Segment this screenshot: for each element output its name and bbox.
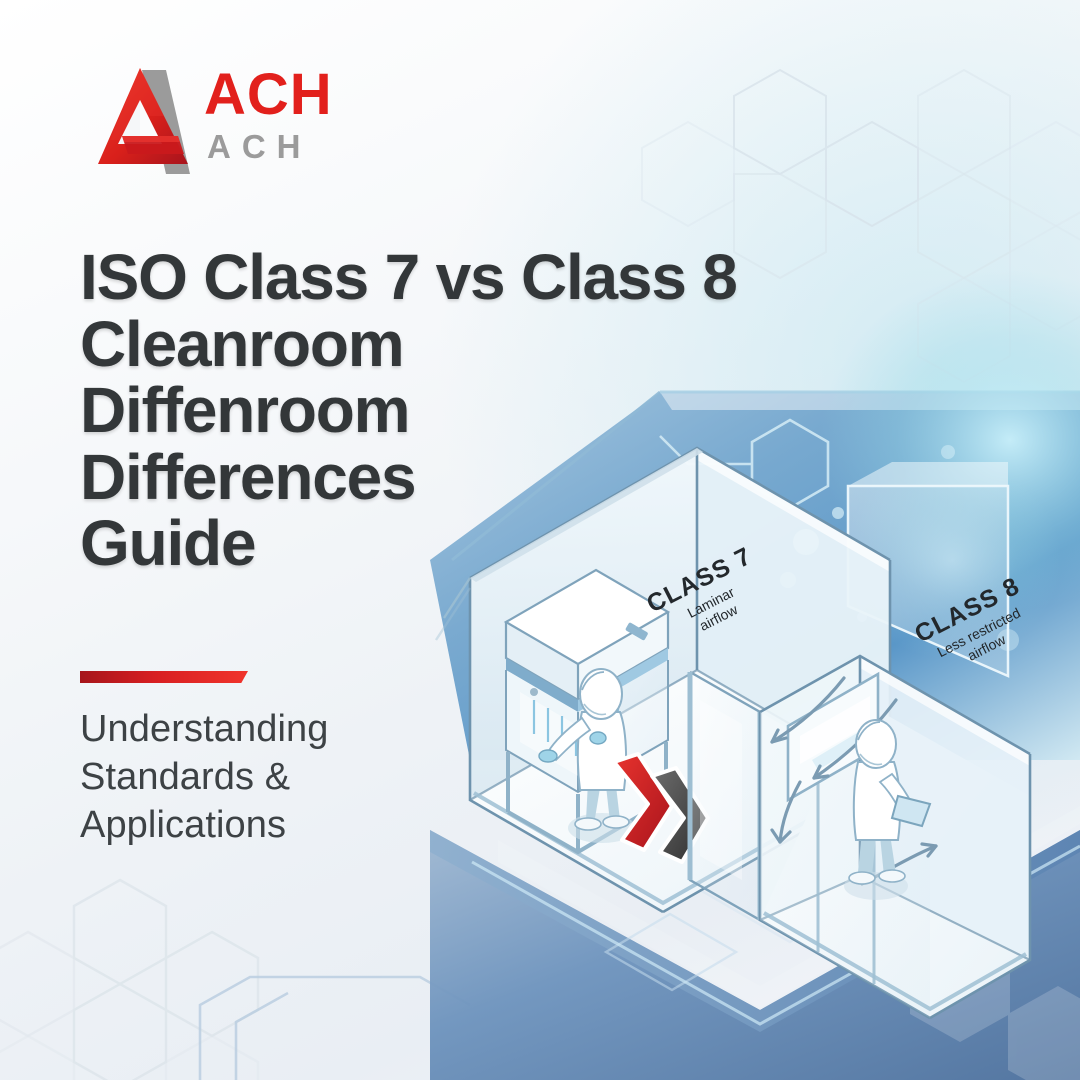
page-subtitle: Understanding Standards & Applications (80, 706, 460, 850)
headline-line-2: Cleanroom (80, 311, 880, 378)
subheadline-line-3: Applications (80, 802, 460, 850)
headline-line-5: Guide (80, 510, 880, 577)
brand-wordmark: ACH ACH (204, 66, 333, 163)
partition-doorway (690, 672, 760, 920)
left-wall-accent (436, 578, 470, 640)
brand-name-primary: ACH (204, 66, 333, 124)
subheadline-line-1: Understanding (80, 706, 460, 754)
red-divider (80, 671, 248, 683)
brand-logo[interactable]: ACH ACH (92, 58, 422, 188)
subheadline-line-2: Standards & (80, 754, 460, 802)
headline-line-3: Diffenroom (80, 377, 880, 444)
poster-canvas: ACH ACH ISO Class 7 vs Class 8 Cleanroom… (0, 0, 1080, 1080)
ach-triangle-logo-icon (92, 62, 204, 180)
page-title: ISO Class 7 vs Class 8 Cleanroom Diffenr… (80, 244, 880, 577)
brand-name-secondary: ACH (207, 130, 333, 163)
headline-line-4: Differences (80, 444, 880, 511)
headline-line-1: ISO Class 7 vs Class 8 (80, 244, 880, 311)
